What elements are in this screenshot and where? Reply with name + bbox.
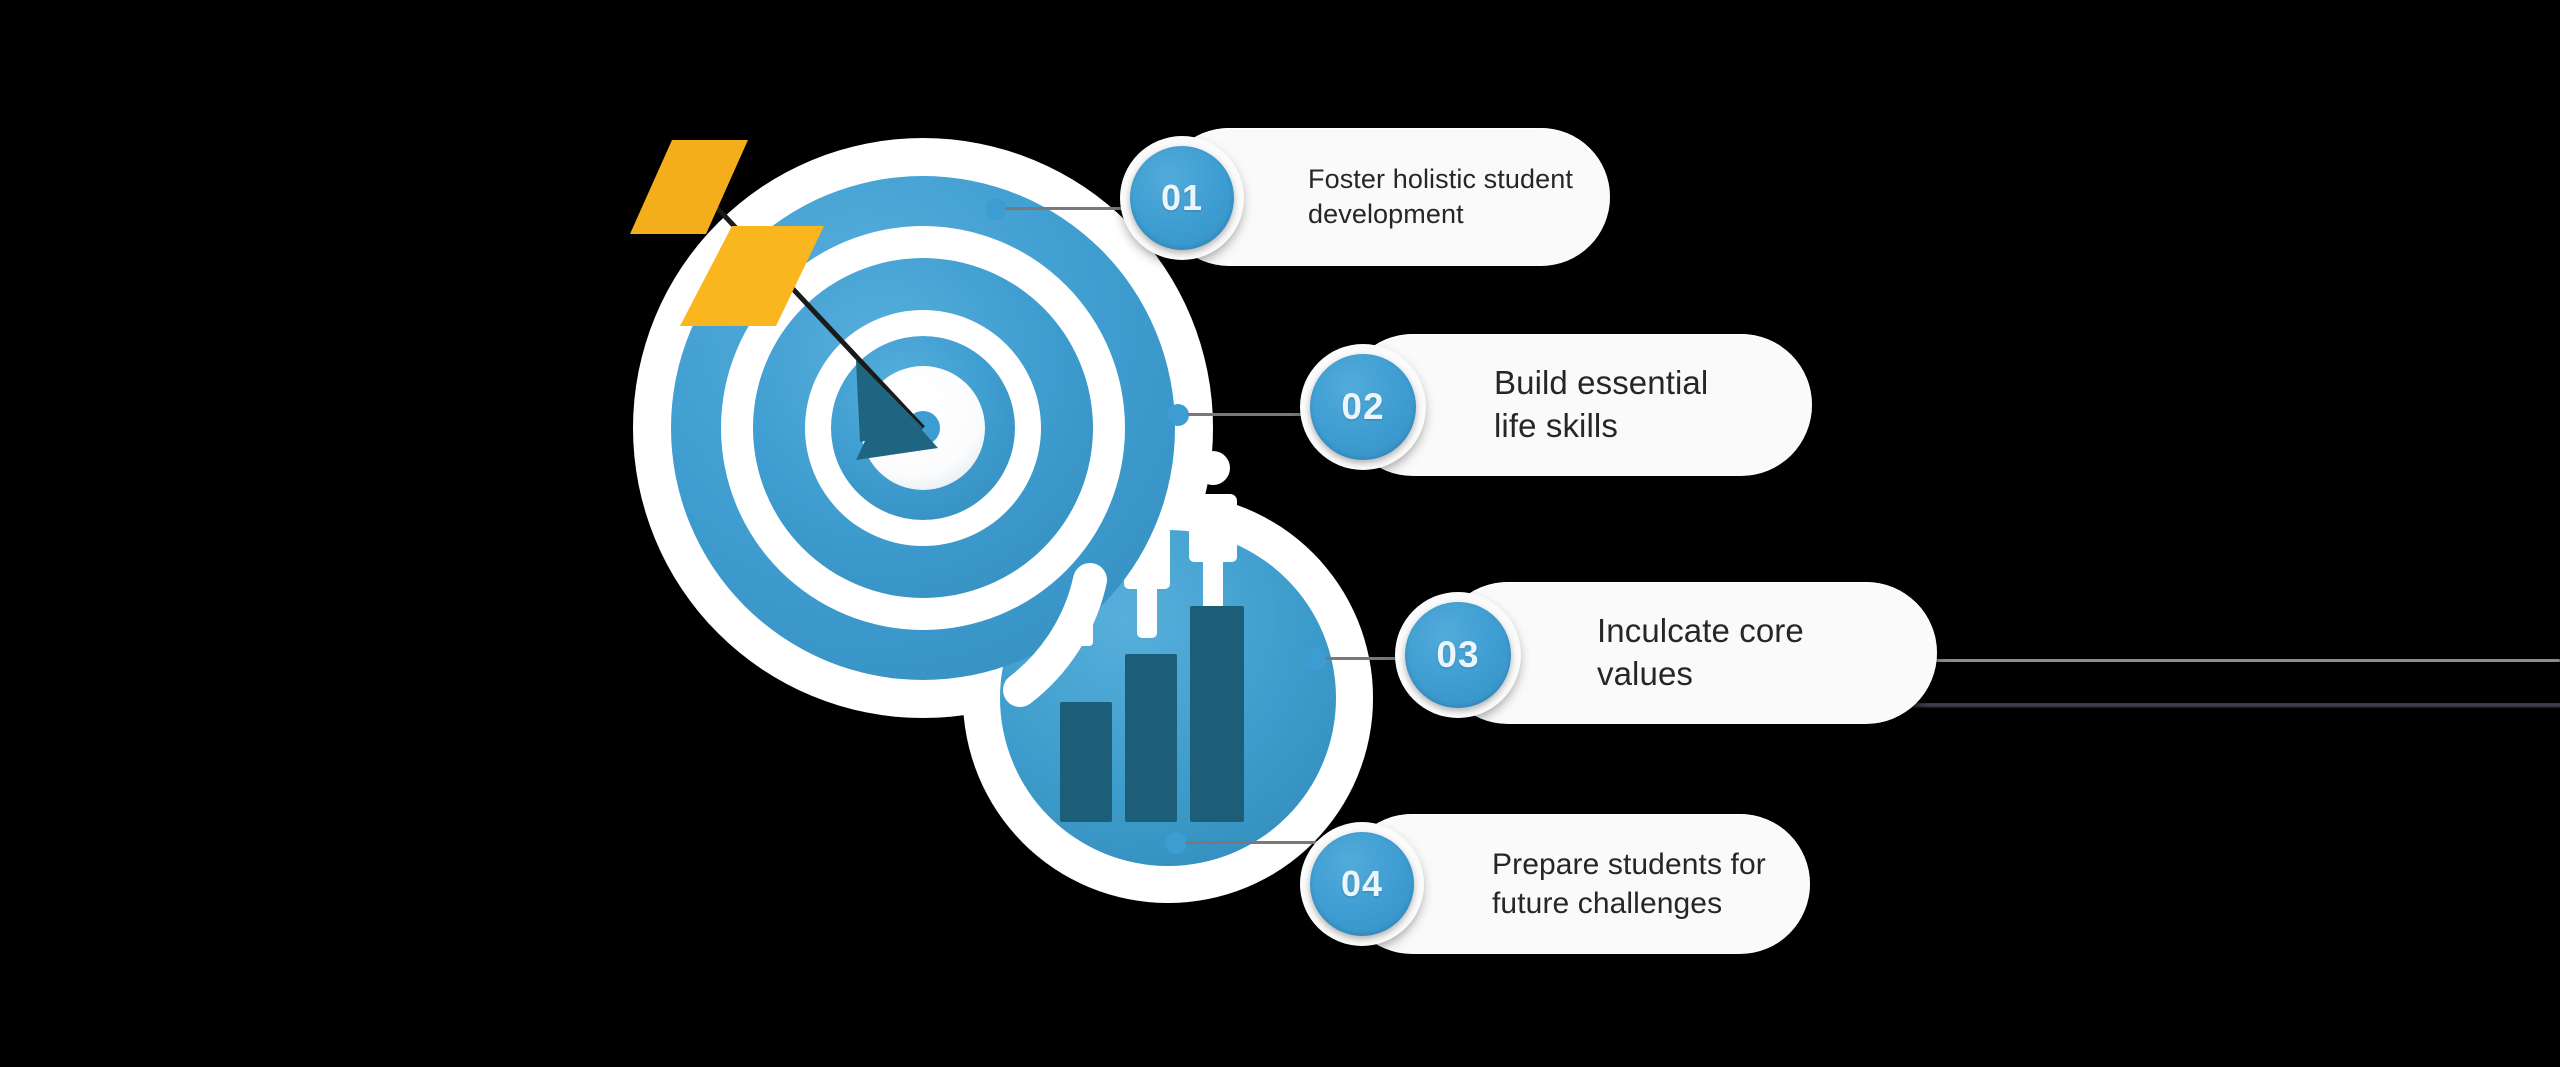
item-01[interactable]: Foster holistic student development 01 — [1120, 112, 1620, 290]
item-03[interactable]: Inculcate core values 03 — [1395, 568, 1925, 748]
connector-line-extension — [1900, 659, 2560, 662]
badge-01[interactable]: 01 — [1130, 146, 1234, 250]
badge-number-01: 01 — [1161, 177, 1203, 219]
badge-number-04: 04 — [1341, 863, 1383, 905]
badge-wrap-01: 01 — [1120, 136, 1244, 260]
item-label-01: Foster holistic student development — [1308, 162, 1573, 232]
badge-number-03: 03 — [1436, 634, 1479, 676]
badge-02[interactable]: 02 — [1310, 354, 1416, 460]
item-02[interactable]: Build essential life skills 02 — [1300, 320, 1830, 500]
badge-03[interactable]: 03 — [1405, 602, 1511, 708]
item-label-03: Inculcate core values — [1597, 610, 1804, 696]
badge-wrap-03: 03 — [1395, 592, 1521, 718]
badge-number-02: 02 — [1341, 386, 1384, 428]
connector-dot-03 — [1305, 648, 1327, 670]
badge-04[interactable]: 04 — [1310, 832, 1414, 936]
connector-dot-01 — [985, 198, 1007, 220]
infographic-canvas: Foster holistic student development 01 B… — [0, 0, 2560, 1067]
extension-shadow — [1880, 703, 2560, 708]
item-04[interactable]: Prepare students for future challenges 0… — [1300, 800, 1830, 980]
badge-wrap-02: 02 — [1300, 344, 1426, 470]
badge-wrap-04: 04 — [1300, 822, 1424, 946]
item-label-04: Prepare students for future challenges — [1492, 845, 1766, 923]
item-label-02: Build essential life skills — [1494, 362, 1708, 448]
connector-dot-02 — [1167, 404, 1189, 426]
connector-dot-04 — [1165, 832, 1187, 854]
